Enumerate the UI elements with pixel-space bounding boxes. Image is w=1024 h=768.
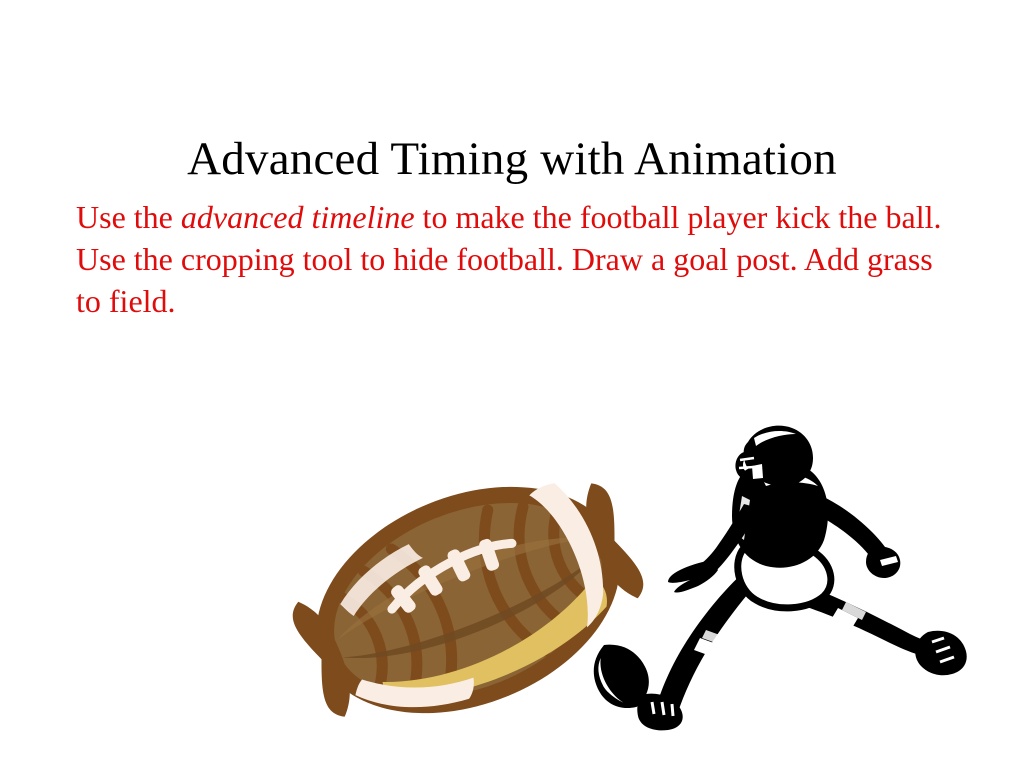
small-black-football xyxy=(581,633,660,719)
body-text-emphasis: advanced timeline xyxy=(181,199,415,235)
slide-body-text: Use the advanced timeline to make the fo… xyxy=(76,196,948,322)
large-football-clipart xyxy=(271,440,664,760)
body-text-segment-1: Use the xyxy=(76,199,181,235)
football-kicker-silhouette xyxy=(637,426,966,731)
presentation-slide: Advanced Timing with Animation Use the a… xyxy=(0,0,1024,768)
page-title: Advanced Timing with Animation xyxy=(0,131,1024,187)
slide-graphics xyxy=(0,0,1024,768)
